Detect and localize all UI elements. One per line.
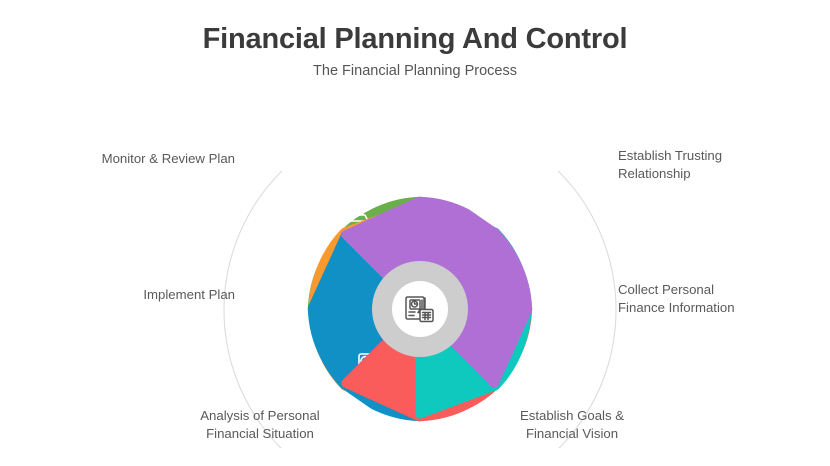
segment-label-analysis-personal-financial-situation: Analysis of Personal Financial Situation xyxy=(175,407,345,442)
page-subtitle: The Financial Planning Process xyxy=(0,63,830,79)
segment-label-establish-goals-financial-vision: Establish Goals & Financial Vision xyxy=(487,407,657,442)
segment-label-implement-plan: Implement Plan xyxy=(40,286,235,304)
segment-label-monitor-review-plan: Monitor & Review Plan xyxy=(40,150,235,168)
financial-planning-wheel xyxy=(195,88,645,448)
segment-label-collect-personal-finance-information: Collect Personal Finance Information xyxy=(618,281,818,316)
page-title: Financial Planning And Control xyxy=(0,23,830,56)
segment-label-establish-trusting-relationship: Establish Trusting Relationship xyxy=(618,147,818,182)
slide-canvas: Financial Planning And Control The Finan… xyxy=(0,0,830,466)
connector-dot-purple xyxy=(479,280,494,295)
handshake-heart-icon xyxy=(478,156,518,196)
